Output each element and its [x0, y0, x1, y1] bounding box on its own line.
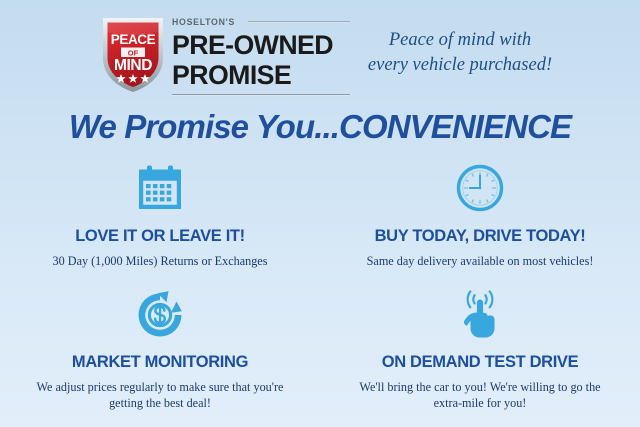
- shield-line-of: OF: [128, 48, 139, 57]
- feature-buy-today-drive-today: BUY TODAY, DRIVE TODAY! Same day deliver…: [320, 155, 640, 283]
- brand-wordmark: HOSELTON'S PRE-OWNED PROMISE: [172, 8, 360, 100]
- dollar-refresh-icon: [135, 288, 185, 342]
- feature-love-it-or-leave-it: LOVE IT OR LEAVE IT! 30 Day (1,000 Miles…: [0, 155, 320, 283]
- tagline: Peace of mind with every vehicle purchas…: [358, 28, 562, 78]
- promise-title-line1: PRE-OWNED: [172, 32, 333, 59]
- feature-title: ON DEMAND TEST DRIVE: [382, 353, 579, 372]
- feature-title: MARKET MONITORING: [72, 353, 248, 372]
- feature-title: LOVE IT OR LEAVE IT!: [75, 227, 245, 246]
- clock-icon: [455, 160, 505, 216]
- dealer-name-eyebrow: HOSELTON'S: [172, 17, 235, 28]
- feature-description: Same day delivery available on most vehi…: [367, 253, 594, 269]
- banner-header: PEACE OF MIND HOSELTON'S PRE-O: [0, 0, 640, 104]
- feature-grid: LOVE IT OR LEAVE IT! 30 Day (1,000 Miles…: [0, 155, 640, 411]
- tagline-line1: Peace of mind with: [358, 28, 562, 53]
- shield-line-mind: MIND: [114, 57, 152, 74]
- shield-line-peace: PEACE: [111, 32, 156, 47]
- brand-lockup: PEACE OF MIND HOSELTON'S PRE-O: [98, 8, 360, 100]
- eyebrow-row: HOSELTON'S: [172, 16, 360, 28]
- calendar-icon: [135, 160, 185, 216]
- hand-tap-icon: [455, 288, 505, 342]
- promise-title-line2: PROMISE: [172, 62, 291, 89]
- header-rule-top: [248, 21, 351, 23]
- promise-banner: PEACE OF MIND HOSELTON'S PRE-O: [0, 0, 640, 427]
- page-headline: We Promise You...CONVENIENCE: [0, 107, 640, 147]
- feature-description: We'll bring the car to you! We're willin…: [353, 379, 608, 411]
- tagline-line2: every vehicle purchased!: [358, 53, 562, 78]
- feature-description: 30 Day (1,000 Miles) Returns or Exchange…: [53, 253, 268, 269]
- shield-icon: PEACE OF MIND: [98, 12, 168, 96]
- feature-on-demand-test-drive: ON DEMAND TEST DRIVE We'll bring the car…: [320, 283, 640, 411]
- peace-of-mind-shield-logo: PEACE OF MIND: [98, 12, 168, 96]
- feature-title: BUY TODAY, DRIVE TODAY!: [375, 227, 586, 246]
- header-rule-bottom: [172, 94, 350, 96]
- feature-market-monitoring: MARKET MONITORING We adjust prices regul…: [0, 283, 320, 411]
- feature-description: We adjust prices regularly to make sure …: [33, 379, 288, 411]
